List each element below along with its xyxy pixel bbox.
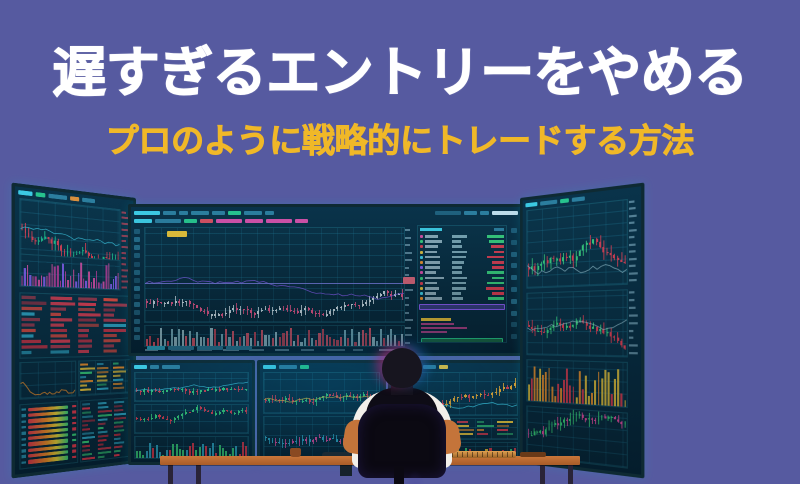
watchlist-change — [488, 297, 504, 300]
watchlist-change — [489, 240, 504, 243]
legend-chip — [295, 219, 308, 223]
axis-tick-label — [629, 307, 635, 309]
axis-tick-label — [405, 252, 412, 254]
data-cell — [98, 447, 111, 450]
axis-tick-label — [121, 240, 126, 242]
candle-body — [292, 441, 294, 444]
candle-wick — [541, 261, 542, 271]
candle-body — [193, 304, 195, 305]
data-cell — [50, 307, 66, 310]
candle-body — [247, 309, 249, 310]
candle-body — [60, 246, 62, 251]
candle-body — [309, 400, 311, 401]
candle-body — [285, 443, 287, 445]
data-cell — [104, 314, 115, 317]
axis-tick-label — [121, 228, 127, 231]
candle-body — [28, 233, 30, 237]
right-angled-monitor[interactable] — [520, 183, 644, 479]
volume-bar — [545, 372, 547, 402]
candle-body — [468, 395, 470, 398]
desk-leg — [196, 465, 201, 484]
watchlist-symbol-icon — [420, 297, 423, 300]
volume-bar — [614, 379, 616, 406]
candle-body — [226, 410, 228, 411]
volume-bar — [548, 368, 550, 402]
candle-body — [312, 440, 314, 442]
candle-body — [250, 310, 252, 314]
candle-body — [204, 409, 206, 411]
volume-bar — [239, 337, 241, 346]
volume-bar — [146, 339, 148, 347]
candle-body — [196, 407, 198, 409]
chart-note-label[interactable] — [167, 231, 187, 237]
axis-tick-label — [629, 200, 635, 203]
candle-body — [620, 341, 622, 346]
toolbar-chip — [279, 365, 297, 369]
candle-body — [158, 391, 160, 392]
candle-body — [365, 302, 367, 304]
candle-body — [537, 331, 539, 332]
data-cell — [477, 425, 495, 427]
candle-body — [149, 303, 151, 304]
candle-body — [178, 301, 180, 304]
heatmap-label — [22, 408, 26, 411]
data-cell — [477, 433, 489, 435]
data-cell — [98, 456, 104, 459]
data-cell — [113, 383, 122, 385]
candle-body — [543, 332, 545, 333]
tab-stock-screener[interactable] — [147, 346, 165, 350]
candle-body — [339, 398, 341, 399]
candle-body — [344, 305, 346, 307]
volume-bar — [171, 329, 173, 346]
volume-bar — [156, 445, 158, 458]
volume-bar — [566, 369, 568, 403]
candle-body — [204, 390, 206, 391]
rail-icon — [511, 240, 517, 245]
layout-chip[interactable] — [435, 211, 461, 215]
candle-body — [185, 412, 187, 414]
data-cell — [82, 415, 93, 418]
data-cell — [104, 298, 118, 301]
data-cell — [80, 384, 87, 386]
candle-body — [305, 400, 307, 401]
candle-body — [339, 441, 341, 442]
volume-bar — [624, 400, 626, 407]
data-cell — [497, 429, 508, 431]
watchlist-symbol-icon — [420, 256, 423, 259]
heatmap-value — [72, 444, 76, 447]
candle-body — [336, 439, 338, 442]
watchlist-price — [452, 282, 466, 285]
candle-body — [143, 419, 145, 420]
center-volume-chart — [144, 325, 405, 347]
volume-bar — [582, 389, 584, 404]
watchlist-price — [452, 245, 462, 248]
tab-strategy-tester[interactable] — [168, 346, 194, 350]
candle-body — [160, 302, 162, 304]
data-cell — [50, 296, 72, 299]
axis-tick-label — [405, 267, 409, 269]
candle-body — [254, 313, 256, 314]
volume-bar — [152, 448, 154, 458]
candle-body — [136, 390, 138, 391]
watchlist-price — [452, 261, 464, 264]
candle-body — [491, 393, 493, 395]
volume-bar — [279, 337, 281, 346]
data-cell — [114, 445, 122, 448]
candle-body — [232, 308, 234, 311]
candle-body — [177, 389, 179, 390]
candle-body — [401, 294, 403, 297]
legend-chip — [245, 219, 263, 223]
candle-wick — [528, 263, 529, 276]
candle-type-chip[interactable] — [179, 211, 188, 215]
tab-pine-editor[interactable] — [197, 346, 223, 350]
candle-body — [322, 437, 324, 440]
candle-body — [510, 386, 512, 389]
heatmap-value — [72, 450, 76, 453]
candle-body — [319, 398, 321, 399]
watchlist-change — [492, 292, 504, 295]
candle-body — [617, 258, 619, 261]
candle-body — [302, 439, 304, 441]
candle-body — [219, 389, 221, 390]
volume-bar — [136, 451, 138, 458]
axis-tick-label — [405, 327, 411, 329]
volume-bar — [73, 269, 75, 287]
candle-body — [514, 383, 516, 386]
axis-tick-label — [405, 229, 410, 231]
toolbar-chip — [48, 194, 67, 200]
candle-body — [214, 314, 216, 315]
watchlist-symbol-icon — [420, 271, 423, 274]
gear-icon[interactable] — [480, 211, 489, 215]
volume-bar — [390, 329, 392, 346]
candle-body — [211, 412, 213, 414]
page-title: 遅すぎるエントリーをやめる — [52, 46, 748, 101]
candle-body — [117, 258, 119, 259]
axis-tick-label — [629, 207, 636, 210]
data-cell — [50, 345, 70, 348]
chair-highlight — [404, 470, 426, 484]
candle-body — [268, 308, 270, 311]
candle-body — [586, 322, 588, 325]
right-monitor-upper — [526, 199, 628, 289]
candle-body — [610, 253, 612, 255]
data-cell — [22, 329, 36, 332]
rail-icon — [134, 245, 140, 250]
heatmap-value — [72, 416, 76, 419]
axis-tick-label — [405, 259, 412, 261]
data-cell — [82, 403, 90, 406]
right-axis-mid — [629, 289, 639, 358]
candle-body — [171, 302, 173, 303]
center-watchlist-sidebar[interactable] — [417, 225, 507, 343]
interval-chip[interactable] — [163, 211, 176, 215]
seated-trader — [346, 348, 458, 466]
candle-body — [265, 437, 267, 438]
axis-tick-label — [629, 314, 637, 316]
candle-body — [340, 307, 342, 308]
candle-body — [196, 391, 198, 392]
data-cell — [114, 413, 126, 416]
candle-body — [241, 389, 243, 390]
volume-bar — [304, 338, 306, 346]
candle-body — [268, 399, 270, 401]
candle-body — [495, 392, 497, 394]
candle-body — [354, 304, 356, 305]
left-angled-monitor[interactable] — [12, 183, 136, 479]
volume-bar — [401, 334, 403, 346]
axis-tick-label — [629, 243, 635, 246]
center-price-chart[interactable] — [144, 227, 405, 323]
candle-body — [329, 394, 331, 395]
candle-body — [245, 389, 247, 390]
candle-body — [582, 320, 584, 322]
candle-body — [372, 298, 374, 300]
candle-body — [25, 228, 27, 232]
rail-icon — [511, 322, 517, 327]
bottom-left-monitor[interactable] — [128, 360, 255, 465]
details-row — [421, 327, 467, 329]
chart-grid — [145, 228, 404, 322]
volume-bar — [108, 264, 109, 289]
volume-bar — [146, 451, 148, 458]
candle-body — [275, 399, 277, 400]
alert-chip[interactable] — [228, 211, 241, 215]
candle-body — [534, 266, 536, 271]
watchlist-price — [452, 287, 466, 290]
candle-body — [268, 438, 270, 440]
watchlist-symbol-icon — [420, 277, 423, 280]
volume-bar — [534, 367, 536, 401]
symbol-chip[interactable] — [134, 211, 160, 215]
candle-body — [606, 332, 608, 333]
data-cell — [78, 345, 92, 348]
volume-bar — [203, 337, 205, 346]
candle-body — [563, 420, 565, 423]
volume-bar — [75, 281, 77, 287]
candle-body — [299, 401, 301, 402]
axis-tick-label — [405, 297, 409, 299]
volume-bar — [214, 329, 216, 346]
volume-bar — [598, 372, 600, 405]
watchlist-symbol — [425, 292, 436, 295]
candle-body — [607, 417, 609, 419]
candle-body — [215, 389, 217, 390]
volume-bar — [189, 331, 191, 347]
candle-body — [221, 314, 223, 315]
details-row — [421, 323, 454, 325]
replay-chip[interactable] — [244, 211, 262, 215]
candle-body — [572, 415, 574, 418]
volume-bar — [365, 333, 367, 346]
volume-bar — [351, 329, 353, 346]
data-cell — [50, 323, 64, 326]
data-cell — [114, 454, 119, 457]
center-main-monitor[interactable] — [128, 204, 524, 356]
right-axis-upper — [629, 198, 639, 285]
candle-body — [181, 414, 183, 416]
data-cell — [78, 334, 89, 337]
candle-body — [44, 237, 46, 239]
template-chip[interactable] — [212, 211, 225, 215]
watchlist-change — [487, 282, 504, 285]
candle-body — [41, 239, 43, 241]
candle-body — [586, 243, 588, 245]
candle-body — [282, 443, 284, 445]
volume-bar — [32, 277, 34, 287]
watchlist-price — [452, 251, 467, 254]
toolbar-chip — [300, 365, 309, 369]
candle-body — [594, 420, 596, 421]
data-cell — [50, 334, 66, 337]
candle-body — [559, 323, 561, 325]
volume-bar — [542, 375, 544, 401]
candle-body — [146, 301, 148, 303]
data-cell — [82, 449, 90, 452]
axis-tick-label — [629, 265, 635, 268]
watchlist-symbol — [425, 251, 437, 254]
axis-tick-label — [405, 289, 413, 291]
watchlist-change — [486, 287, 504, 290]
candle-body — [539, 431, 541, 432]
axis-tick-label — [121, 252, 125, 254]
toolbar-chip — [150, 365, 159, 369]
data-cell — [104, 329, 126, 332]
axis-tick-label — [629, 258, 637, 261]
volume-bar — [101, 283, 102, 289]
candle-body — [51, 239, 53, 243]
rail-icon — [134, 262, 140, 267]
data-cell — [82, 419, 95, 422]
toolbar-chip — [82, 198, 95, 204]
candle-body — [304, 308, 306, 310]
candle-body — [591, 418, 593, 419]
watchlist-symbol — [425, 277, 444, 280]
volume-bar — [531, 379, 533, 401]
volume-bar — [228, 337, 230, 346]
candle-body — [203, 311, 205, 312]
candle-body — [603, 329, 605, 333]
candle-body — [151, 390, 153, 392]
center-drawing-toolbar[interactable] — [133, 227, 142, 341]
volume-bar — [142, 455, 144, 458]
volume-bar — [43, 277, 45, 287]
volume-bar — [557, 384, 559, 403]
candle-body — [461, 397, 463, 398]
candle-body — [143, 390, 145, 392]
candle-body — [88, 252, 90, 255]
candle-body — [569, 256, 571, 258]
data-cell — [97, 367, 108, 369]
candle-body — [599, 329, 601, 331]
volume-bar — [297, 335, 299, 346]
candle-body — [64, 251, 66, 254]
data-cell — [98, 406, 108, 409]
candle-body — [582, 245, 584, 250]
volume-bar — [225, 329, 227, 346]
data-cell — [114, 417, 127, 420]
candle-body — [158, 415, 160, 417]
candle-body — [343, 397, 345, 398]
axis-tick-label — [405, 319, 413, 321]
more-chip[interactable] — [265, 211, 274, 215]
data-cell — [104, 334, 117, 337]
volume-bar — [78, 273, 80, 288]
data-cell — [98, 418, 107, 421]
center-icon-rail[interactable] — [510, 225, 519, 343]
legend-chip — [155, 219, 181, 223]
candle-body — [315, 400, 317, 403]
volume-bar — [57, 266, 59, 287]
data-cell — [80, 372, 91, 375]
volume-bar — [322, 329, 324, 346]
candle-body — [322, 396, 324, 398]
heatmap-label — [22, 461, 26, 464]
center-toolbar[interactable] — [131, 210, 521, 216]
candle-body — [79, 251, 81, 254]
candle-body — [73, 254, 75, 255]
watchlist-title — [420, 228, 442, 231]
indicators-chip[interactable] — [191, 211, 209, 215]
candle-body — [387, 291, 389, 294]
candle-body — [358, 305, 360, 306]
candle-body — [189, 301, 191, 304]
save-chip[interactable] — [464, 211, 477, 215]
data-cell — [113, 366, 124, 368]
volume-bar — [551, 387, 553, 403]
candle-body — [147, 390, 149, 392]
candle-body — [572, 324, 574, 326]
candle-body — [278, 400, 280, 401]
right-monitor-hist — [526, 359, 628, 408]
tab-trading-panel[interactable] — [226, 346, 252, 350]
heatmap-label — [22, 426, 26, 429]
candle-body — [290, 310, 292, 312]
axis-tick-label — [405, 312, 409, 314]
axis-tick-label — [629, 236, 634, 239]
data-cell — [98, 410, 112, 413]
candle-body — [211, 314, 213, 315]
toolbar-chip — [36, 192, 46, 197]
data-cell — [80, 363, 88, 365]
publish-button[interactable] — [492, 211, 518, 215]
candle-body — [329, 438, 331, 440]
candle-body — [151, 418, 153, 420]
volume-bar — [232, 331, 234, 346]
candle-body — [556, 323, 558, 325]
watchlist-symbol-icon — [420, 266, 423, 269]
candle-body — [136, 418, 138, 419]
axis-tick-label — [405, 274, 409, 276]
candle-body — [272, 310, 274, 311]
volume-bar — [528, 384, 530, 401]
watchlist-symbol — [425, 287, 439, 290]
volume-bar — [261, 330, 263, 346]
data-cell — [104, 339, 120, 342]
candle-body — [38, 240, 40, 242]
volume-bar — [585, 375, 587, 404]
data-cell — [78, 303, 97, 306]
candle-body — [275, 442, 277, 444]
axis-tick-label — [629, 214, 637, 217]
candle-body — [309, 439, 311, 442]
candle-body — [601, 416, 603, 417]
trader-head — [382, 348, 422, 388]
volume-bar — [588, 396, 590, 405]
